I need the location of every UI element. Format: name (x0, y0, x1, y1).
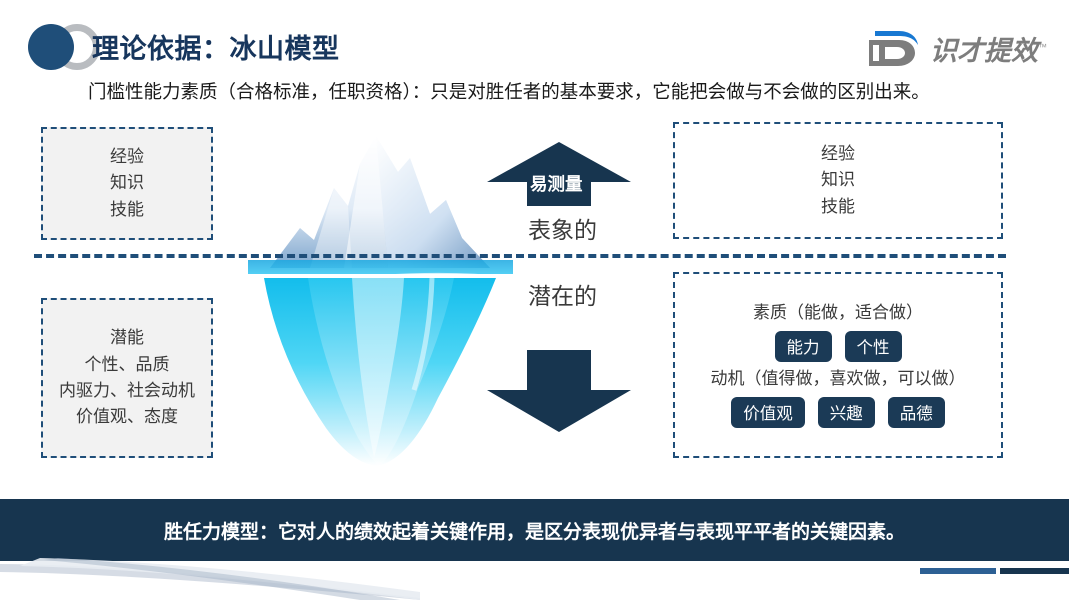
company-logo: 识才提效™ (869, 26, 1047, 70)
footer-tick-dark (1000, 568, 1069, 574)
box-line: 技能 (821, 194, 855, 220)
logo-wordmark: 识才提效™ (930, 29, 1047, 68)
latent-caption: 潜在的 (528, 277, 597, 311)
footer-tick-blue (920, 568, 996, 574)
box-latent-left: 潜能 个性、品质 内驱力、社会动机 价值观、态度 (41, 298, 213, 458)
quality-tag-row: 能力 个性 (775, 331, 902, 362)
slide-canvas: 理论依据：冰山模型 门槛性能力素质（合格标准，任职资格）：只是对胜任者的基本要求… (0, 0, 1069, 600)
arrow-down-icon (487, 350, 631, 432)
box-surface-right: 经验 知识 技能 (673, 122, 1003, 239)
arrow-down-shape-icon (487, 350, 631, 432)
motive-tag-row: 价值观 兴趣 品德 (731, 397, 945, 428)
iceberg-illustration-icon (248, 128, 513, 468)
box-latent-right: 素质（能做，适合做） 能力 个性 动机（值得做，喜欢做，可以做） 价值观 兴趣 … (673, 272, 1003, 458)
trademark-symbol: ™ (1038, 42, 1047, 52)
blue-circle-icon (28, 24, 74, 70)
box-line: 技能 (110, 197, 144, 223)
tag-item[interactable]: 品德 (888, 397, 945, 428)
logo-wordmark-text: 识才提效 (930, 36, 1038, 66)
page-subtitle: 门槛性能力素质（合格标准，任职资格）：只是对胜任者的基本要求，它能把会做与不会做… (88, 78, 930, 104)
box-line: 经验 (110, 144, 144, 170)
tag-item[interactable]: 价值观 (731, 397, 805, 428)
letter-d-logo-icon (869, 27, 921, 69)
tag-item[interactable]: 个性 (845, 331, 902, 362)
box-surface-left: 经验 知识 技能 (41, 127, 213, 240)
box-line: 知识 (821, 167, 855, 193)
arrow-up-label: 易测量 (530, 171, 583, 196)
box-line: 潜能 (110, 325, 144, 351)
quality-line: 素质（能做，适合做） (753, 300, 923, 326)
page-title: 理论依据：冰山模型 (92, 27, 340, 66)
footer-text: 胜任力模型：它对人的绩效起着关键作用，是区分表现优异者与表现平平者的关键因素。 (0, 499, 1069, 561)
waterline-divider (34, 254, 1006, 258)
box-line: 价值观、态度 (76, 404, 178, 430)
tag-item[interactable]: 能力 (775, 331, 832, 362)
motive-line: 动机（值得做，喜欢做，可以做） (711, 366, 966, 392)
box-line: 个性、品质 (85, 352, 170, 378)
decorative-swoosh-icon (0, 558, 420, 600)
box-line: 内驱力、社会动机 (59, 378, 195, 404)
box-line: 经验 (821, 141, 855, 167)
box-line: 知识 (110, 170, 144, 196)
arrow-down-label: 难测量 (530, 325, 583, 350)
surface-caption: 表象的 (528, 211, 597, 245)
tag-item[interactable]: 兴趣 (818, 397, 875, 428)
